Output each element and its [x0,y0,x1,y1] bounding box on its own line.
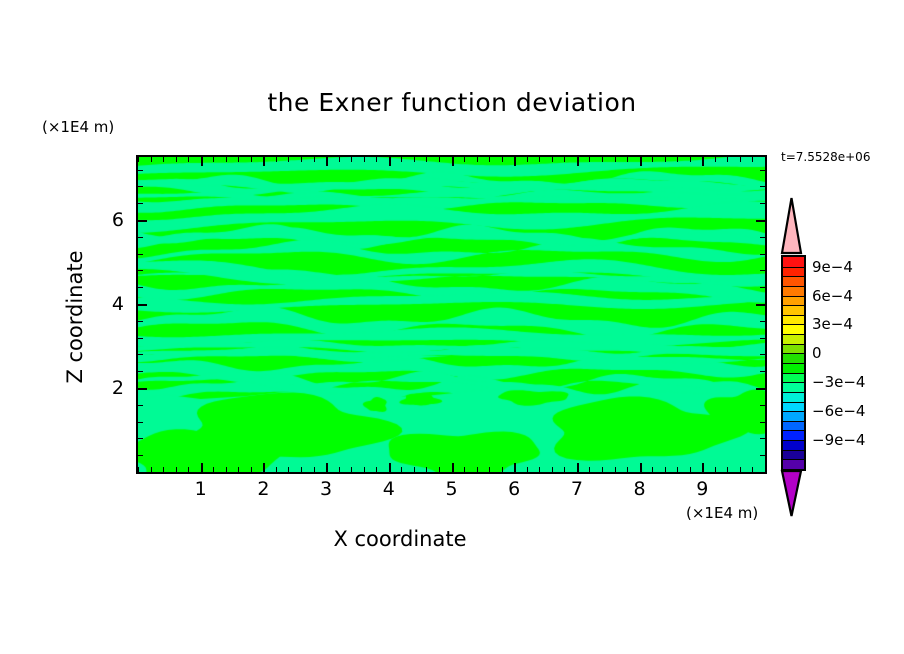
x-tick-minor-top [238,157,239,162]
colorbar-separator [783,421,804,422]
x-tick-minor [138,467,139,472]
colorbar-separator [783,411,804,412]
x-tick-minor [188,467,189,472]
y-tick-label: 4 [92,293,124,315]
x-tick-minor-top [439,157,440,162]
x-tick-minor-top [602,157,603,162]
x-tick-minor [677,467,678,472]
contour-field [138,157,765,472]
x-tick-minor [715,467,716,472]
x-tick-minor-top [401,157,402,162]
colorbar-separator [783,324,804,325]
colorbar-swatch [783,257,804,267]
x-tick-minor [690,467,691,472]
x-tick-major [640,463,642,472]
colorbar-swatch [783,305,804,315]
colorbar-separator [783,402,804,403]
colorbar-swatch [783,402,804,412]
y-tick-major [138,220,147,222]
x-tick-minor-top [527,157,528,162]
colorbar-swatch [783,315,804,325]
colorbar-separator [783,392,804,393]
colorbar-swatch [783,382,804,392]
x-tick-major-top [389,157,391,166]
x-tick-minor [276,467,277,472]
x-tick-label: 6 [494,478,534,500]
x-tick-minor [364,467,365,472]
x-tick-minor-top [376,157,377,162]
x-tick-minor-top [539,157,540,162]
colorbar-tick-label: −9e−4 [812,431,865,449]
x-tick-label: 7 [557,478,597,500]
y-tick-minor-right [760,321,765,322]
x-tick-major [201,463,203,472]
x-tick-minor-top [502,157,503,162]
colorbar-swatch [783,286,804,296]
colorbar-swatch [783,411,804,421]
colorbar-separator [783,459,804,460]
y-tick-label: 6 [92,209,124,231]
colorbar-swatch [783,450,804,460]
x-tick-minor [615,467,616,472]
contour-plot-area [136,155,767,474]
x-tick-minor-top [314,157,315,162]
x-tick-minor [564,467,565,472]
x-tick-minor [251,467,252,472]
x-tick-minor [351,467,352,472]
colorbar-swatch [783,440,804,450]
y-tick-minor-right [760,170,765,171]
colorbar-separator [783,305,804,306]
x-tick-major [389,463,391,472]
colorbar-separator [783,373,804,374]
x-tick-minor-top [351,157,352,162]
colorbar-separator [783,296,804,297]
y-tick-minor [138,371,143,372]
x-tick-minor [489,467,490,472]
x-tick-minor [627,467,628,472]
x-tick-minor-top [251,157,252,162]
x-tick-minor [752,467,753,472]
x-tick-minor [301,467,302,472]
x-tick-minor-top [652,157,653,162]
colorbar-under-arrow [779,469,804,518]
colorbar-swatch [783,296,804,306]
y-tick-minor [138,170,143,171]
x-tick-minor-top [715,157,716,162]
colorbar-tick-label: 6e−4 [812,287,853,305]
y-tick-minor-right [760,354,765,355]
time-stamp-annotation: t=7.5528e+06 [781,150,870,164]
x-tick-minor-top [276,157,277,162]
x-tick-minor [602,467,603,472]
x-tick-minor [151,467,152,472]
x-tick-minor [527,467,528,472]
figure-canvas: the Exner function deviation (×1E4 m) (×… [0,0,904,654]
y-tick-minor [138,254,143,255]
x-tick-minor [439,467,440,472]
colorbar-separator [783,382,804,383]
x-tick-minor [163,467,164,472]
x-axis-title: X coordinate [0,527,800,551]
y-tick-minor-right [760,203,765,204]
x-tick-minor-top [339,157,340,162]
y-tick-minor-right [760,237,765,238]
x-tick-minor-top [489,157,490,162]
y-tick-minor [138,237,143,238]
x-tick-minor [238,467,239,472]
x-tick-minor-top [552,157,553,162]
x-tick-minor-top [364,157,365,162]
x-tick-label: 3 [306,478,346,500]
x-tick-minor [414,467,415,472]
colorbar-separator [783,334,804,335]
x-tick-minor [477,467,478,472]
x-tick-minor-top [301,157,302,162]
x-tick-minor-top [740,157,741,162]
x-tick-major [702,463,704,472]
x-tick-minor [464,467,465,472]
x-tick-minor-top [752,157,753,162]
x-tick-minor [539,467,540,472]
y-tick-minor [138,270,143,271]
y-tick-minor-right [760,287,765,288]
y-tick-minor [138,422,143,423]
colorbar-tick-label: 9e−4 [812,258,853,276]
y-tick-minor-right [760,338,765,339]
colorbar[interactable] [781,255,806,471]
colorbar-swatch [783,267,804,277]
x-tick-minor-top [151,157,152,162]
y-tick-major [138,304,147,306]
x-tick-minor-top [213,157,214,162]
colorbar-swatch [783,430,804,440]
x-tick-minor [727,467,728,472]
x-tick-minor [376,467,377,472]
x-tick-minor [665,467,666,472]
colorbar-swatch [783,392,804,402]
x-tick-minor-top [627,157,628,162]
y-tick-major-right [756,304,765,306]
x-tick-minor [652,467,653,472]
x-tick-minor-top [564,157,565,162]
y-tick-minor [138,186,143,187]
x-tick-minor [589,467,590,472]
x-tick-minor-top [288,157,289,162]
colorbar-separator [783,440,804,441]
colorbar-separator [783,286,804,287]
x-tick-major-top [201,157,203,166]
x-tick-major [326,463,328,472]
colorbar-separator [783,430,804,431]
colorbar-swatch [783,459,804,469]
x-tick-minor-top [765,157,766,162]
x-tick-major [514,463,516,472]
x-tick-minor [401,467,402,472]
x-tick-minor [288,467,289,472]
x-tick-minor-top [426,157,427,162]
x-tick-minor-top [414,157,415,162]
y-tick-minor-right [760,254,765,255]
x-tick-minor-top [589,157,590,162]
y-tick-label: 2 [92,377,124,399]
x-tick-minor-top [727,157,728,162]
x-tick-label: 2 [243,478,283,500]
x-tick-minor-top [138,157,139,162]
x-tick-minor [339,467,340,472]
y-tick-minor [138,405,143,406]
y-tick-minor-right [760,371,765,372]
x-tick-minor-top [226,157,227,162]
x-tick-minor-top [665,157,666,162]
x-tick-major [263,463,265,472]
colorbar-tick-label: −6e−4 [812,402,865,420]
y-tick-minor [138,338,143,339]
x-tick-minor [740,467,741,472]
y-tick-minor [138,287,143,288]
colorbar-separator [783,353,804,354]
x-tick-minor-top [477,157,478,162]
colorbar-separator [783,276,804,277]
colorbar-tick-label: 3e−4 [812,315,853,333]
colorbar-swatch [783,334,804,344]
x-tick-minor-top [690,157,691,162]
x-tick-major-top [514,157,516,166]
y-tick-minor-right [760,438,765,439]
x-tick-label: 5 [432,478,472,500]
x-tick-major-top [702,157,704,166]
y-tick-minor-right [760,455,765,456]
y-tick-major [138,388,147,390]
y-tick-minor-right [760,405,765,406]
x-tick-major [452,463,454,472]
x-tick-minor [552,467,553,472]
x-tick-minor [314,467,315,472]
x-tick-minor [176,467,177,472]
colorbar-tick-label: −3e−4 [812,373,865,391]
y-tick-minor [138,438,143,439]
x-axis-unit-label: (×1E4 m) [686,504,758,522]
y-tick-minor-right [760,422,765,423]
x-tick-label: 9 [682,478,722,500]
colorbar-swatch [783,421,804,431]
y-tick-minor [138,455,143,456]
y-axis-unit-label: (×1E4 m) [42,118,114,136]
colorbar-separator [783,363,804,364]
y-tick-major-right [756,388,765,390]
colorbar-separator [783,450,804,451]
x-tick-major-top [326,157,328,166]
colorbar-separator [783,344,804,345]
y-axis-title: Z coordinate [63,217,87,417]
y-tick-major-right [756,220,765,222]
y-tick-minor-right [760,270,765,271]
colorbar-swatch [783,373,804,383]
x-tick-minor [502,467,503,472]
x-tick-minor [226,467,227,472]
x-tick-label: 4 [369,478,409,500]
x-tick-minor [765,467,766,472]
colorbar-swatch [783,344,804,354]
colorbar-swatch [783,363,804,373]
y-tick-minor-right [760,186,765,187]
x-tick-major-top [263,157,265,166]
x-tick-major-top [577,157,579,166]
x-tick-major-top [640,157,642,166]
x-tick-minor-top [615,157,616,162]
x-tick-minor [213,467,214,472]
colorbar-swatch [783,324,804,334]
x-tick-major-top [452,157,454,166]
x-tick-minor [426,467,427,472]
colorbar-swatch [783,353,804,363]
colorbar-tick-label: 0 [812,344,822,362]
y-tick-minor [138,354,143,355]
y-tick-minor [138,321,143,322]
x-tick-minor-top [163,157,164,162]
x-tick-minor-top [176,157,177,162]
x-tick-label: 1 [181,478,221,500]
y-tick-minor [138,203,143,204]
colorbar-over-arrow [779,196,804,255]
page-title: the Exner function deviation [0,88,904,117]
colorbar-separator [783,267,804,268]
x-tick-major [577,463,579,472]
x-tick-minor-top [464,157,465,162]
colorbar-separator [783,315,804,316]
colorbar-swatch [783,276,804,286]
x-tick-minor-top [677,157,678,162]
x-tick-minor-top [188,157,189,162]
x-tick-label: 8 [620,478,660,500]
